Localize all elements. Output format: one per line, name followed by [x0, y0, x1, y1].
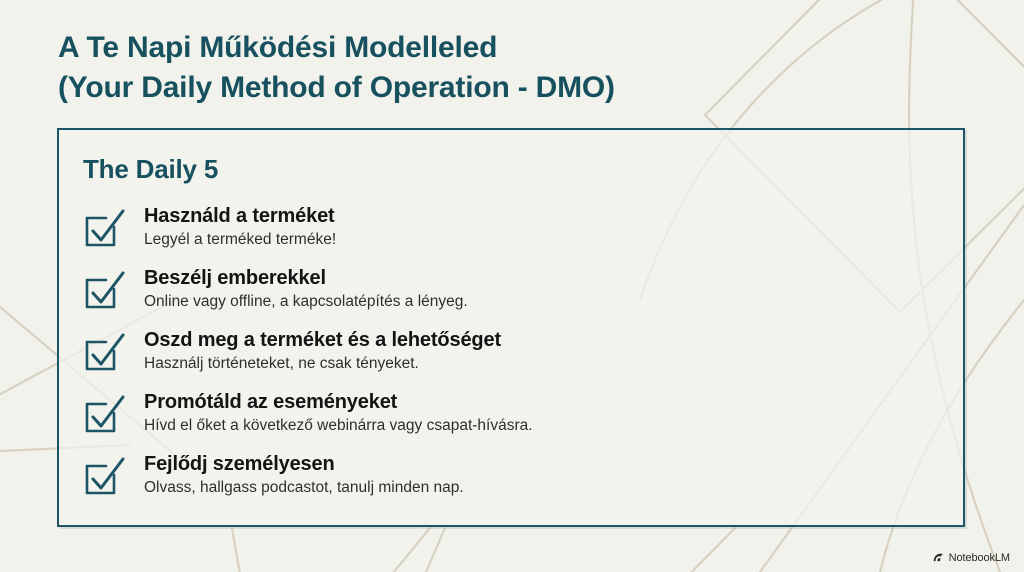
daily-five-card: The Daily 5 Használd a terméket Legyél a…	[57, 128, 965, 527]
list-item-subtitle: Legyél a terméked terméke!	[144, 228, 953, 250]
title-line-1: A Te Napi Működési Modelleled	[58, 28, 615, 68]
checkbox-checked-icon	[81, 453, 129, 501]
checkbox-checked-icon	[81, 391, 129, 439]
notebooklm-brand: NotebookLM	[932, 551, 1010, 564]
list-item: Beszélj emberekkel Online vagy offline, …	[81, 264, 953, 326]
checkbox-checked-icon	[81, 205, 129, 253]
brand-label: NotebookLM	[949, 552, 1010, 564]
list-item-subtitle: Online vagy offline, a kapcsolatépítés a…	[144, 290, 953, 312]
list-item-title: Beszélj emberekkel	[144, 264, 953, 290]
list-item-title: Oszd meg a terméket és a lehetőséget	[144, 326, 953, 352]
list-item-title: Fejlődj személyesen	[144, 450, 953, 476]
checkbox-checked-icon	[81, 267, 129, 315]
daily-five-list: Használd a terméket Legyél a terméked te…	[81, 202, 953, 512]
page-title: A Te Napi Működési Modelleled (Your Dail…	[58, 28, 615, 108]
title-line-2: (Your Daily Method of Operation - DMO)	[58, 68, 615, 108]
list-item-title: Promótáld az eseményeket	[144, 388, 953, 414]
list-item-subtitle: Használj történeteket, ne csak tényeket.	[144, 352, 953, 374]
list-item-subtitle: Olvass, hallgass podcastot, tanulj minde…	[144, 476, 953, 498]
list-item-subtitle: Hívd el őket a következő webinárra vagy …	[144, 414, 953, 436]
notebooklm-icon	[932, 551, 945, 564]
list-item-title: Használd a terméket	[144, 202, 953, 228]
list-item: Fejlődj személyesen Olvass, hallgass pod…	[81, 450, 953, 512]
list-item: Használd a terméket Legyél a terméked te…	[81, 202, 953, 264]
card-heading: The Daily 5	[83, 154, 218, 185]
list-item: Oszd meg a terméket és a lehetőséget Has…	[81, 326, 953, 388]
slide-canvas: A Te Napi Működési Modelleled (Your Dail…	[0, 0, 1024, 572]
checkbox-checked-icon	[81, 329, 129, 377]
list-item: Promótáld az eseményeket Hívd el őket a …	[81, 388, 953, 450]
